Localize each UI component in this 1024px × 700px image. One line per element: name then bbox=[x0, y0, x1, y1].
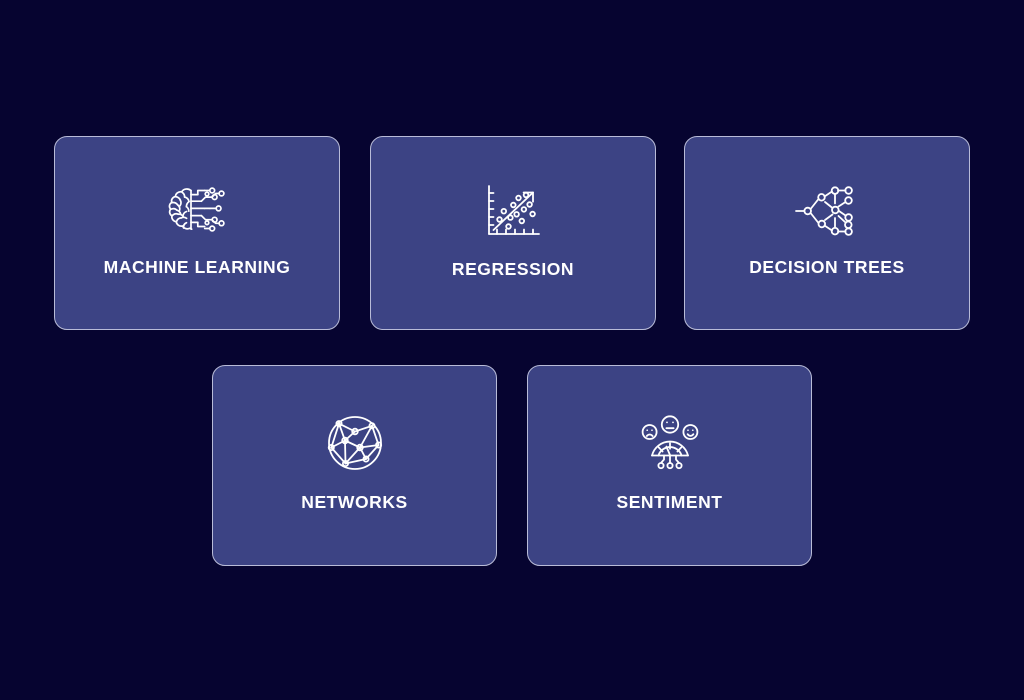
card-machine-learning[interactable]: MACHINE LEARNING bbox=[54, 136, 340, 330]
brain-circuit-icon bbox=[165, 183, 229, 239]
scatter-plot-trendline-icon bbox=[482, 183, 544, 241]
card-label: MACHINE LEARNING bbox=[104, 259, 291, 277]
decision-tree-nodes-icon bbox=[794, 183, 860, 239]
card-label: SENTIMENT bbox=[616, 494, 722, 512]
sentiment-gauge-faces-icon bbox=[640, 414, 700, 472]
network-globe-icon bbox=[326, 414, 384, 472]
card-sentiment[interactable]: SENTIMENT bbox=[527, 365, 812, 566]
card-label: DECISION TREES bbox=[749, 259, 905, 277]
card-label: REGRESSION bbox=[452, 261, 574, 279]
card-label: NETWORKS bbox=[301, 494, 407, 512]
card-regression[interactable]: REGRESSION bbox=[370, 136, 656, 330]
card-grid: MACHINE LEARNING bbox=[0, 0, 1024, 700]
card-decision-trees[interactable]: DECISION TREES bbox=[684, 136, 970, 330]
card-networks[interactable]: NETWORKS bbox=[212, 365, 497, 566]
